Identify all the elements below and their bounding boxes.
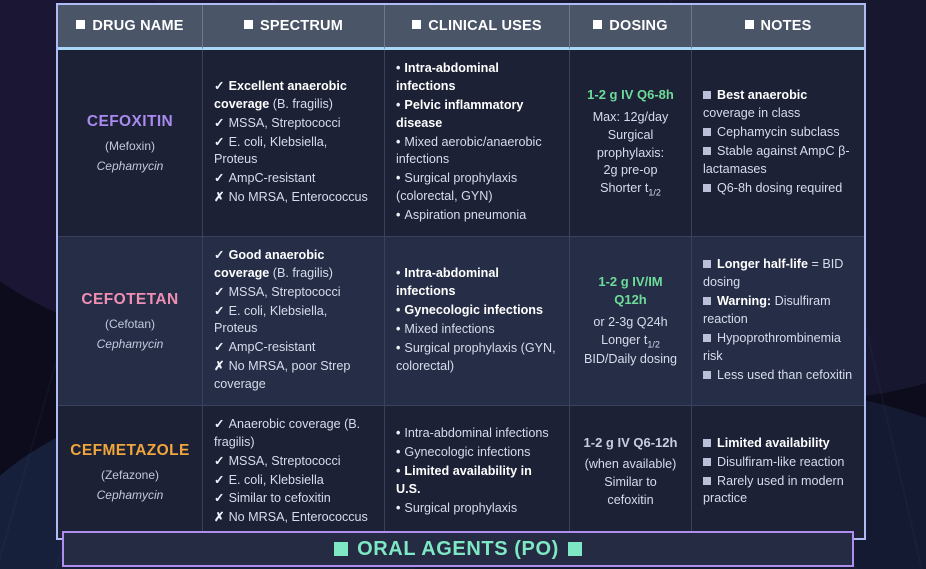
spectrum-cell: ✓Good anaerobic coverage (B. fragilis)✓M… [203, 237, 385, 406]
dosing-cell: 1-2 g IV Q6-8hMax: 12g/daySurgicalprophy… [570, 50, 692, 237]
column-header-notes: NOTES [692, 5, 864, 50]
list-item: •Mixed aerobic/anaerobic infections [396, 134, 558, 170]
square-bullet-icon [568, 542, 582, 556]
column-header-drug-name: DRUG NAME [58, 5, 203, 50]
column-header-label: NOTES [761, 18, 812, 34]
list-item: •Intra-abdominal infections [396, 60, 558, 96]
bullet-icon: • [396, 445, 400, 459]
drug-name: CEFMETAZOLE [69, 440, 191, 462]
list-item: •Intra-abdominal infections [396, 265, 558, 301]
list-item: Hypoprothrombinemia risk [703, 330, 853, 366]
column-header-spectrum: SPECTRUM [203, 5, 385, 50]
table-header-row: DRUG NAMESPECTRUMCLINICAL USESDOSINGNOTE… [58, 5, 864, 50]
dose-half-life: Shorter t1/2 [581, 180, 680, 199]
square-bullet-icon [703, 297, 711, 305]
clinical-uses-cell: •Intra-abdominal infections•Gynecologic … [385, 237, 570, 406]
bullet-icon: • [396, 98, 400, 112]
list-item: •Surgical prophylaxis (colorectal, GYN) [396, 170, 558, 206]
emphasis-text: Gynecologic infections [404, 303, 543, 317]
list-item: •Pelvic inflammatory disease [396, 97, 558, 133]
item-text: (B. fragilis) [269, 97, 333, 111]
dose-detail: prophylaxis: [581, 145, 680, 163]
drug-name: CEFOXITIN [69, 111, 191, 133]
column-header-clinical-uses: CLINICAL USES [385, 5, 570, 50]
list-item: Stable against AmpC β-lactamases [703, 143, 853, 179]
bullet-icon: • [396, 322, 400, 336]
emphasis-text: Limited availability [717, 436, 830, 450]
list-item: Longer half-life = BID dosing [703, 256, 853, 292]
cross-icon: ✗ [214, 190, 225, 204]
list-item: ✓AmpC-resistant [214, 170, 373, 188]
dosing-cell: 1-2 g IV Q6-12h(when available)Similar t… [570, 406, 692, 538]
list-item: Cephamycin subclass [703, 124, 853, 142]
square-bullet-icon [703, 334, 711, 342]
list-item: •Intra-abdominal infections [396, 425, 558, 443]
item-text: (B. fragilis) [269, 266, 333, 280]
list-item: Disulfiram-like reaction [703, 454, 853, 472]
item-text: Stable against AmpC β-lactamases [703, 144, 850, 176]
item-text: Surgical prophylaxis [404, 501, 517, 515]
column-header-label: DOSING [609, 18, 667, 34]
list-item: ✓MSSA, Streptococci [214, 115, 373, 133]
drug-comparison-table: DRUG NAMESPECTRUMCLINICAL USESDOSINGNOTE… [56, 3, 866, 540]
list-item: Less used than cefoxitin [703, 367, 853, 385]
list-item: ✓Similar to cefoxitin [214, 490, 373, 508]
spectrum-list: ✓Excellent anaerobic coverage (B. fragil… [214, 78, 373, 207]
list-item: Warning: Disulfiram reaction [703, 293, 853, 329]
square-bullet-icon [703, 477, 711, 485]
check-icon: ✓ [214, 304, 225, 318]
item-text: Surgical prophylaxis (colorectal, GYN) [396, 171, 517, 203]
check-icon: ✓ [214, 417, 225, 431]
item-text: E. coli, Klebsiella [229, 473, 324, 487]
item-text: Disulfiram-like reaction [717, 455, 844, 469]
table-row: CEFOTETAN(Cefotan)Cephamycin✓Good anaero… [58, 237, 864, 406]
item-text: No MRSA, Enterococcus [229, 510, 368, 524]
list-item: Rarely used in modern practice [703, 473, 853, 509]
table-body: CEFOXITIN(Mefoxin)Cephamycin✓Excellent a… [58, 50, 864, 538]
dose-detail: Max: 12g/day [581, 109, 680, 127]
check-icon: ✓ [214, 135, 225, 149]
dose-headline: 1-2 g IV Q6-12h [581, 434, 680, 452]
item-text: Less used than cefoxitin [717, 368, 852, 382]
column-header-label: CLINICAL USES [428, 18, 542, 34]
item-text: MSSA, Streptococci [229, 454, 341, 468]
dose-half-life: Longer t1/2 [581, 332, 680, 351]
list-item: Limited availability [703, 435, 853, 453]
square-bullet-icon [703, 371, 711, 379]
item-text: Mixed aerobic/anaerobic infections [396, 135, 542, 167]
square-bullet-icon [703, 260, 711, 268]
square-bullet-icon [703, 91, 711, 99]
banner-label: ORAL AGENTS (PO) [357, 538, 559, 561]
list-item: •Surgical prophylaxis [396, 500, 558, 518]
spectrum-list: ✓Anaerobic coverage (B. fragilis)✓MSSA, … [214, 416, 373, 527]
dose-detail: BID/Daily dosing [581, 351, 680, 369]
column-header-dosing: DOSING [570, 5, 692, 50]
drug-class: Cephamycin [69, 487, 191, 504]
item-text: Rarely used in modern practice [703, 474, 844, 506]
check-icon: ✓ [214, 116, 225, 130]
item-text: Cephamycin subclass [717, 125, 840, 139]
list-item: ✓AmpC-resistant [214, 339, 373, 357]
list-item: Best anaerobic coverage in class [703, 87, 853, 123]
bullet-icon: • [396, 303, 400, 317]
item-text: MSSA, Streptococci [229, 116, 341, 130]
bullet-icon: • [396, 266, 400, 280]
emphasis-text: Warning: [717, 294, 771, 308]
dose-detail: Similar to cefoxitin [581, 474, 680, 510]
list-item: •Aspiration pneumonia [396, 207, 558, 225]
uses-list: •Intra-abdominal infections•Gynecologic … [396, 425, 558, 517]
bullet-icon: • [396, 135, 400, 149]
bullet-icon: • [396, 61, 400, 75]
item-text: MSSA, Streptococci [229, 285, 341, 299]
list-item: ✓E. coli, Klebsiella, Proteus [214, 303, 373, 339]
square-bullet-icon [76, 20, 85, 29]
drug-brand-name: (Cefotan) [69, 316, 191, 333]
list-item: •Gynecologic infections [396, 444, 558, 462]
notes-list: Best anaerobic coverage in classCephamyc… [703, 87, 853, 197]
dose-detail: 2g pre-op [581, 162, 680, 180]
emphasis-text: Limited availability in U.S. [396, 464, 532, 496]
table-row: CEFOXITIN(Mefoxin)Cephamycin✓Excellent a… [58, 50, 864, 237]
emphasis-text: Intra-abdominal infections [396, 61, 499, 93]
column-header-label: DRUG NAME [92, 18, 183, 34]
bullet-icon: • [396, 426, 400, 440]
item-text: E. coli, Klebsiella, Proteus [214, 304, 327, 336]
square-bullet-icon [334, 542, 348, 556]
square-bullet-icon [703, 458, 711, 466]
square-bullet-icon [244, 20, 253, 29]
list-item: ✓MSSA, Streptococci [214, 284, 373, 302]
item-text: No MRSA, Enterococcus [229, 190, 368, 204]
bullet-icon: • [396, 464, 400, 478]
list-item: ✓Good anaerobic coverage (B. fragilis) [214, 247, 373, 283]
dose-headline: 1-2 g IV Q6-8h [581, 86, 680, 104]
spectrum-cell: ✓Excellent anaerobic coverage (B. fragil… [203, 50, 385, 237]
item-text: Surgical prophylaxis (GYN, colorectal) [396, 341, 556, 373]
list-item: •Surgical prophylaxis (GYN, colorectal) [396, 340, 558, 376]
check-icon: ✓ [214, 171, 225, 185]
drug-class: Cephamycin [69, 336, 191, 353]
column-header-label: SPECTRUM [260, 18, 343, 34]
check-icon: ✓ [214, 285, 225, 299]
check-icon: ✓ [214, 491, 225, 505]
bullet-icon: • [396, 208, 400, 222]
list-item: •Gynecologic infections [396, 302, 558, 320]
item-text: AmpC-resistant [229, 340, 316, 354]
item-text: E. coli, Klebsiella, Proteus [214, 135, 327, 167]
item-text: Similar to cefoxitin [229, 491, 331, 505]
list-item: ✗No MRSA, poor Strep coverage [214, 358, 373, 394]
square-bullet-icon [703, 128, 711, 136]
drug-name: CEFOTETAN [69, 289, 191, 311]
notes-list: Limited availabilityDisulfiram-like reac… [703, 435, 853, 509]
uses-list: •Intra-abdominal infections•Pelvic infla… [396, 60, 558, 225]
half-life-subscript: 1/2 [647, 339, 660, 349]
item-text: Mixed infections [404, 322, 494, 336]
check-icon: ✓ [214, 79, 225, 93]
emphasis-text: Best anaerobic [717, 88, 807, 102]
emphasis-text: Pelvic inflammatory disease [396, 98, 523, 130]
emphasis-text: Longer half-life [717, 257, 808, 271]
list-item: ✗No MRSA, Enterococcus [214, 189, 373, 207]
bullet-icon: • [396, 171, 400, 185]
item-text: Gynecologic infections [404, 445, 530, 459]
clinical-uses-cell: •Intra-abdominal infections•Pelvic infla… [385, 50, 570, 237]
cross-icon: ✗ [214, 359, 225, 373]
check-icon: ✓ [214, 454, 225, 468]
notes-list: Longer half-life = BID dosingWarning: Di… [703, 256, 853, 384]
check-icon: ✓ [214, 473, 225, 487]
half-life-subscript: 1/2 [648, 188, 661, 198]
clinical-uses-cell: •Intra-abdominal infections•Gynecologic … [385, 406, 570, 538]
square-bullet-icon [703, 439, 711, 447]
drug-brand-name: (Zefazone) [69, 467, 191, 484]
square-bullet-icon [703, 184, 711, 192]
bullet-icon: • [396, 501, 400, 515]
drug-name-cell: CEFOXITIN(Mefoxin)Cephamycin [58, 50, 203, 237]
drug-brand-name: (Mefoxin) [69, 138, 191, 155]
oral-agents-banner: ORAL AGENTS (PO) [62, 531, 854, 567]
list-item: ✓E. coli, Klebsiella, Proteus [214, 134, 373, 170]
item-text: Q6-8h dosing required [717, 181, 842, 195]
list-item: ✓Anaerobic coverage (B. fragilis) [214, 416, 373, 452]
dose-headline: 1-2 g IV/IM Q12h [581, 273, 680, 310]
item-text: Intra-abdominal infections [404, 426, 548, 440]
list-item: •Limited availability in U.S. [396, 463, 558, 499]
spectrum-cell: ✓Anaerobic coverage (B. fragilis)✓MSSA, … [203, 406, 385, 538]
cross-icon: ✗ [214, 510, 225, 524]
dosing-cell: 1-2 g IV/IM Q12hor 2-3g Q24hLonger t1/2B… [570, 237, 692, 406]
dose-detail: Surgical [581, 127, 680, 145]
square-bullet-icon [745, 20, 754, 29]
list-item: Q6-8h dosing required [703, 180, 853, 198]
item-text: Anaerobic coverage (B. fragilis) [214, 417, 360, 449]
dose-detail: (when available) [581, 456, 680, 474]
notes-cell: Limited availabilityDisulfiram-like reac… [692, 406, 864, 538]
list-item: ✓E. coli, Klebsiella [214, 472, 373, 490]
spectrum-list: ✓Good anaerobic coverage (B. fragilis)✓M… [214, 247, 373, 394]
bullet-icon: • [396, 341, 400, 355]
item-text: No MRSA, poor Strep coverage [214, 359, 350, 391]
uses-list: •Intra-abdominal infections•Gynecologic … [396, 265, 558, 375]
dose-detail: or 2-3g Q24h [581, 314, 680, 332]
drug-name-cell: CEFOTETAN(Cefotan)Cephamycin [58, 237, 203, 406]
drug-class: Cephamycin [69, 158, 191, 175]
list-item: ✗No MRSA, Enterococcus [214, 509, 373, 527]
square-bullet-icon [593, 20, 602, 29]
item-text: Aspiration pneumonia [404, 208, 526, 222]
list-item: ✓MSSA, Streptococci [214, 453, 373, 471]
item-text: AmpC-resistant [229, 171, 316, 185]
table-row: CEFMETAZOLE(Zefazone)Cephamycin✓Anaerobi… [58, 406, 864, 538]
item-text: Hypoprothrombinemia risk [703, 331, 841, 363]
check-icon: ✓ [214, 340, 225, 354]
list-item: ✓Excellent anaerobic coverage (B. fragil… [214, 78, 373, 114]
drug-name-cell: CEFMETAZOLE(Zefazone)Cephamycin [58, 406, 203, 538]
notes-cell: Best anaerobic coverage in classCephamyc… [692, 50, 864, 237]
square-bullet-icon [703, 147, 711, 155]
emphasis-text: Intra-abdominal infections [396, 266, 499, 298]
square-bullet-icon [412, 20, 421, 29]
item-text: coverage in class [703, 106, 800, 120]
check-icon: ✓ [214, 248, 225, 262]
notes-cell: Longer half-life = BID dosingWarning: Di… [692, 237, 864, 406]
list-item: •Mixed infections [396, 321, 558, 339]
